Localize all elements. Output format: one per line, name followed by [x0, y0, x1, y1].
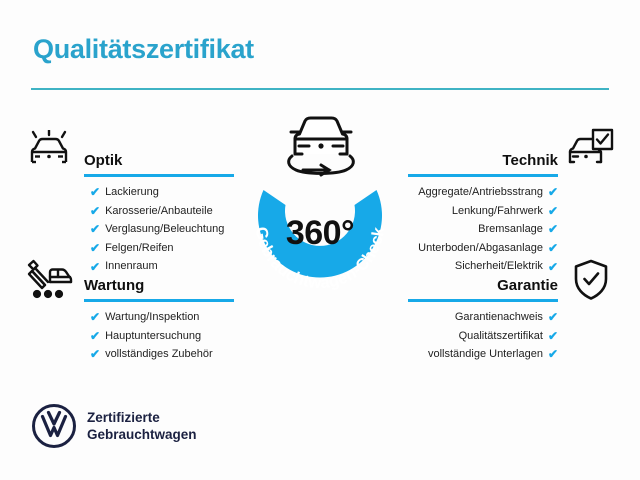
section-technik-underline: [408, 174, 558, 177]
vw-logo-icon: [32, 404, 76, 448]
footer-brand: Zertifizierte Gebrauchtwagen: [32, 404, 197, 448]
list-item: ✔ vollständiges Zubehör: [90, 345, 234, 364]
list-item-label: Karosserie/Anbauteile: [105, 202, 213, 221]
section-technik-list: ✔ Aggregate/Antriebsstrang ✔ Lenkung/Fah…: [408, 183, 558, 276]
list-item-label: Unterboden/Abgasanlage: [418, 239, 543, 258]
section-wartung-title: Wartung: [84, 277, 144, 294]
list-item: ✔ Felgen/Reifen: [90, 239, 234, 258]
check-icon: ✔: [90, 186, 100, 198]
list-item: ✔ vollständige Unterlagen: [408, 345, 558, 364]
header-divider: [31, 88, 609, 90]
list-item: ✔ Lackierung: [90, 183, 234, 202]
footer-line-2: Gebrauchtwagen: [87, 426, 197, 443]
check-icon: ✔: [548, 186, 558, 198]
check-icon: ✔: [90, 311, 100, 323]
section-optik: Optik ✔ Lackierung ✔ Karosserie/Anbautei…: [84, 143, 234, 276]
check-icon: ✔: [548, 205, 558, 217]
list-item: ✔ Unterboden/Abgasanlage: [408, 239, 558, 258]
list-item: ✔ Verglasung/Beleuchtung: [90, 220, 234, 239]
certificate-page: Qualitätszertifikat: [0, 0, 640, 480]
car-rotate-360-icon: [275, 108, 367, 180]
check-icon: ✔: [548, 330, 558, 342]
section-optik-title: Optik: [84, 152, 122, 169]
check-icon: ✔: [548, 348, 558, 360]
list-item-label: Garantienachweis: [455, 308, 543, 327]
list-item-label: Felgen/Reifen: [105, 239, 174, 258]
section-optik-list: ✔ Lackierung ✔ Karosserie/Anbauteile ✔ V…: [90, 183, 234, 276]
list-item-label: Lackierung: [105, 183, 159, 202]
section-garantie-underline: [408, 299, 558, 302]
wrench-car-icon: [22, 258, 74, 305]
list-item: ✔ Hauptuntersuchung: [90, 327, 234, 346]
list-item-label: Wartung/Inspektion: [105, 308, 199, 327]
list-item-label: Qualitätszertifikat: [459, 327, 543, 346]
check-icon: ✔: [90, 205, 100, 217]
section-wartung-list: ✔ Wartung/Inspektion ✔ Hauptuntersuchung…: [90, 308, 234, 364]
check-icon: ✔: [90, 242, 100, 254]
section-wartung-header: Wartung: [84, 268, 234, 302]
section-technik-title: Technik: [502, 152, 558, 169]
section-optik-underline: [84, 174, 234, 177]
section-garantie-list: ✔ Garantienachweis ✔ Qualitätszertifikat…: [408, 308, 558, 364]
section-garantie: Garantie ✔ Garantienachweis ✔ Qualitätsz…: [408, 268, 558, 364]
list-item-label: vollständige Unterlagen: [428, 345, 543, 364]
list-item-label: vollständiges Zubehör: [105, 345, 213, 364]
list-item: ✔ Bremsanlage: [408, 220, 558, 239]
list-item: ✔ Qualitätszertifikat: [408, 327, 558, 346]
section-optik-header: Optik: [84, 143, 234, 177]
shield-check-icon: [572, 259, 610, 306]
check-icon: ✔: [90, 223, 100, 235]
car-checkbox-icon: [566, 128, 614, 175]
footer-brand-text: Zertifizierte Gebrauchtwagen: [87, 409, 197, 443]
list-item: ✔ Wartung/Inspektion: [90, 308, 234, 327]
list-item-label: Bremsanlage: [478, 220, 543, 239]
list-item-label: Aggregate/Antriebsstrang: [418, 183, 543, 202]
check-icon: ✔: [548, 223, 558, 235]
list-item: ✔ Lenkung/Fahrwerk: [408, 202, 558, 221]
page-title: Qualitätszertifikat: [33, 34, 254, 65]
check-icon: ✔: [548, 242, 558, 254]
list-item: ✔ Garantienachweis: [408, 308, 558, 327]
section-garantie-header: Garantie: [408, 268, 558, 302]
section-technik-header: Technik: [408, 143, 558, 177]
list-item: ✔ Aggregate/Antriebsstrang: [408, 183, 558, 202]
list-item-label: Lenkung/Fahrwerk: [452, 202, 543, 221]
badge-360-gebrauchtwagen-check: Gebrauchtwagen-Check 360°: [229, 108, 411, 308]
section-garantie-title: Garantie: [497, 277, 558, 294]
section-wartung: Wartung ✔ Wartung/Inspektion ✔ Hauptunte…: [84, 268, 234, 364]
check-icon: ✔: [90, 348, 100, 360]
list-item-label: Hauptuntersuchung: [105, 327, 201, 346]
check-icon: ✔: [548, 311, 558, 323]
list-item-label: Verglasung/Beleuchtung: [105, 220, 224, 239]
footer-line-1: Zertifizierte: [87, 409, 197, 426]
section-technik: Technik ✔ Aggregate/Antriebsstrang ✔ Len…: [408, 143, 558, 276]
check-icon: ✔: [90, 330, 100, 342]
section-wartung-underline: [84, 299, 234, 302]
list-item: ✔ Karosserie/Anbauteile: [90, 202, 234, 221]
car-shine-icon: [26, 130, 72, 175]
